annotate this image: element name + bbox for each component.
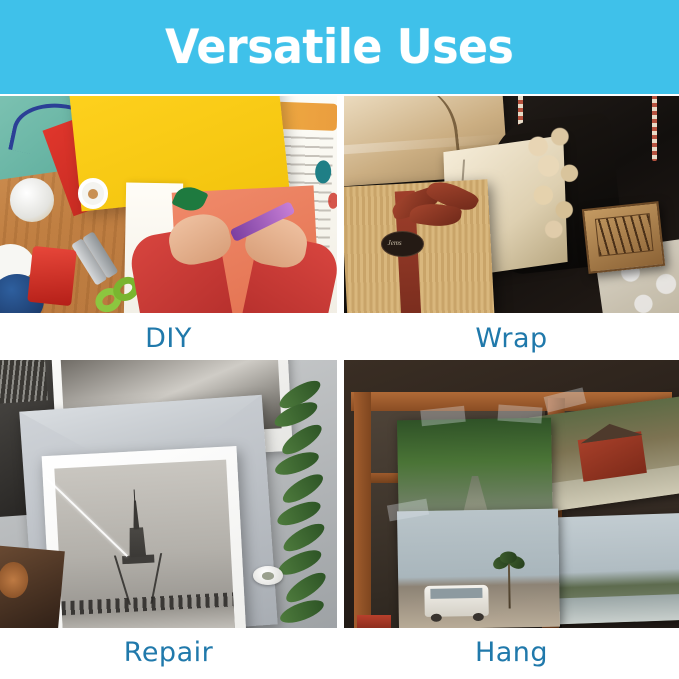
adhesive-tape-strip [498,404,543,423]
caption-wrap: Wrap [344,323,679,354]
eiffel-tower-icon [116,491,160,606]
caption-hang: Hang [344,637,679,668]
gift-tag: Jems [381,231,425,257]
use-case-cell-repair[interactable]: Repair [0,358,337,679]
ribbon-bow [391,183,485,231]
palm-tree-icon [491,556,527,608]
camper-van-photo [397,509,560,628]
red-circle-graphic [328,192,337,208]
van-wheel [472,613,483,621]
window-frame-left [354,392,371,628]
use-case-cell-diy[interactable]: DIY [0,94,337,358]
use-case-grid: DIY Jems Wrap [0,94,679,679]
header-banner: Versatile Uses [0,0,679,94]
pine-sprig [270,381,337,628]
use-case-cell-wrap[interactable]: Jems Wrap [344,94,679,358]
red-object-foreground [357,615,391,628]
fabric-button [253,566,283,585]
caption-repair: Repair [0,637,337,668]
van-window [430,588,482,600]
page-title: Versatile Uses [165,24,513,71]
tape-roll [78,178,108,208]
versatile-uses-infographic: Versatile Uses [0,0,679,679]
glue-jar-lid [10,178,54,221]
beaded-strand [652,96,657,161]
van-wheel [431,613,442,621]
eiffel-tower-photo [42,446,248,628]
wrap-photo: Jems [344,96,679,313]
warm-toned-photo [0,545,64,628]
lake-photo [553,513,679,625]
hang-photo [344,360,679,628]
repair-photo [0,360,337,628]
diy-photo [0,96,337,313]
photo-image-area [54,459,235,628]
caption-diy: DIY [0,323,337,354]
wooden-keepsake-box [582,201,665,274]
red-glue-stick [28,246,77,307]
use-case-cell-hang[interactable]: Hang [344,358,679,679]
